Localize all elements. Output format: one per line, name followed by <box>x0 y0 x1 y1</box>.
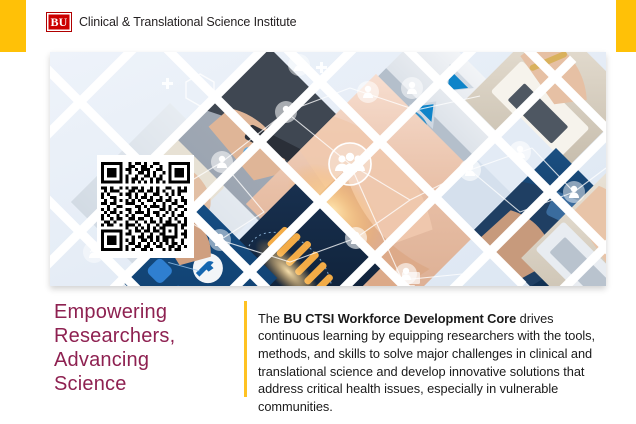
headline-line-1: Empowering <box>54 300 239 324</box>
people-network-hub-icon <box>328 142 372 186</box>
headline-line-3: Advancing <box>54 348 239 372</box>
accent-bar-left <box>0 0 26 52</box>
brand-header: BU Clinical & Translational Science Inst… <box>46 9 296 35</box>
body-lead: The <box>258 311 283 326</box>
vertical-divider <box>244 301 247 397</box>
headline-line-2: Researchers, <box>54 324 239 348</box>
institute-title: Clinical & Translational Science Institu… <box>79 15 296 29</box>
body-paragraph: The BU CTSI Workforce Development Core d… <box>258 310 613 416</box>
headline: Empowering Researchers, Advancing Scienc… <box>54 300 239 396</box>
bu-logo-mark: BU <box>46 12 72 32</box>
body-bold-phrase: BU CTSI Workforce Development Core <box>283 311 516 326</box>
qr-code-panel[interactable] <box>97 155 194 258</box>
accent-bar-right <box>616 0 636 52</box>
hero-collage <box>50 52 606 286</box>
qr-code-icon[interactable] <box>101 159 190 254</box>
message-block: Empowering Researchers, Advancing Scienc… <box>0 292 636 424</box>
bu-logo-text: BU <box>50 16 67 28</box>
body-rest: drives continuous learning by equipping … <box>258 311 595 414</box>
headline-line-4: Science <box>54 372 239 396</box>
